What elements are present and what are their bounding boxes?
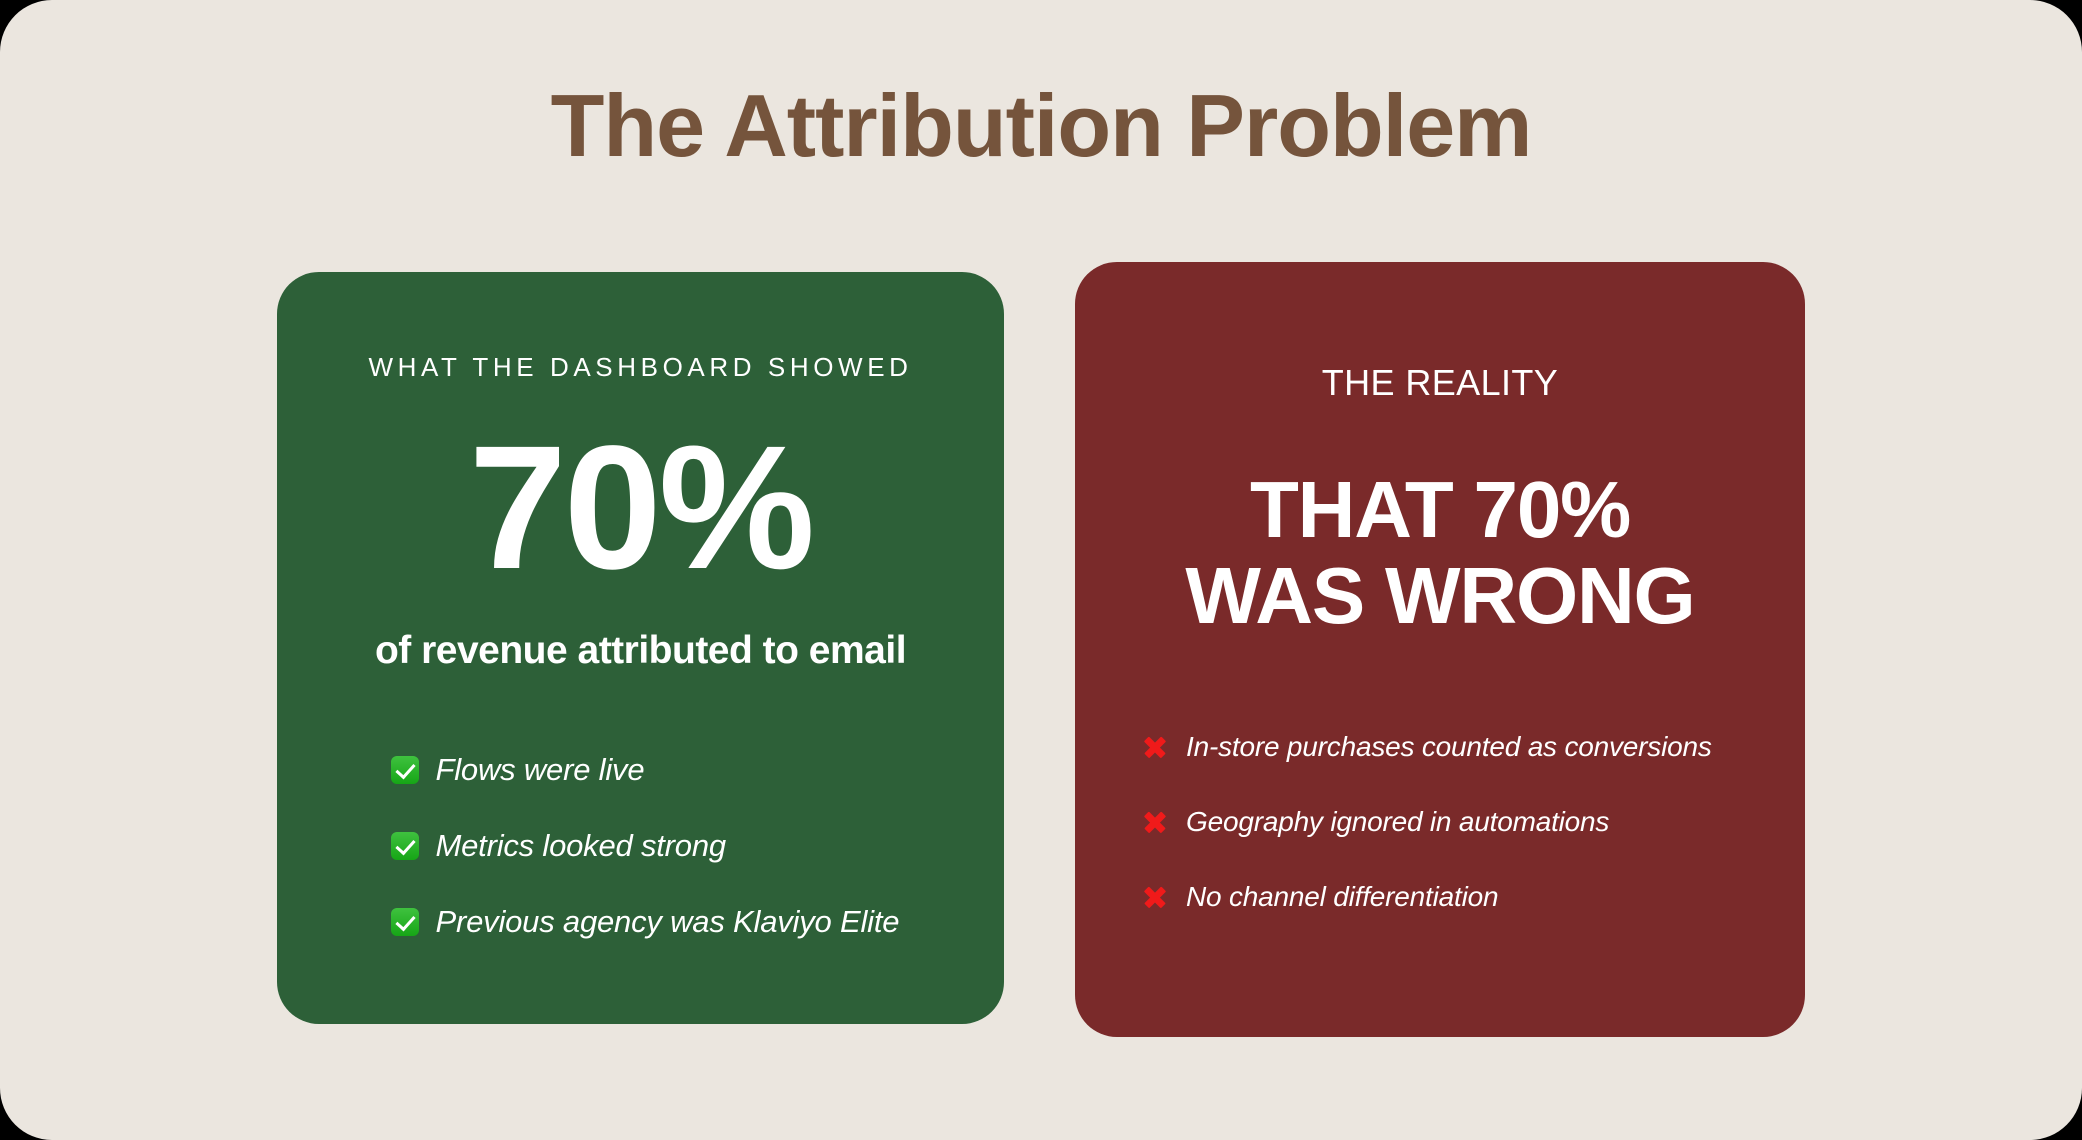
reality-card-eyebrow: THE REALITY bbox=[1075, 362, 1805, 404]
slide-canvas: The Attribution Problem WHAT THE DASHBOA… bbox=[0, 0, 2082, 1140]
dashboard-card: WHAT THE DASHBOARD SHOWED 70% of revenue… bbox=[277, 272, 1004, 1024]
list-item-label: Metrics looked strong bbox=[436, 828, 726, 864]
check-icon bbox=[391, 756, 419, 784]
list-item-label: Previous agency was Klaviyo Elite bbox=[436, 904, 900, 940]
dashboard-card-caption: of revenue attributed to email bbox=[277, 629, 1004, 673]
dashboard-card-eyebrow: WHAT THE DASHBOARD SHOWED bbox=[277, 352, 1004, 383]
x-icon bbox=[1141, 808, 1169, 836]
x-icon bbox=[1141, 733, 1169, 761]
list-item: No channel differentiation bbox=[1141, 880, 1805, 914]
dashboard-bullet-list: Flows were live Metrics looked strong Pr… bbox=[277, 752, 1004, 940]
page-title: The Attribution Problem bbox=[0, 78, 2082, 175]
list-item: Flows were live bbox=[391, 752, 891, 788]
x-icon bbox=[1141, 883, 1169, 911]
list-item: Previous agency was Klaviyo Elite bbox=[391, 904, 891, 940]
list-item-label: Geography ignored in automations bbox=[1186, 806, 1609, 838]
reality-card: THE REALITY THAT 70% WAS WRONG In-store … bbox=[1075, 262, 1805, 1037]
list-item: In-store purchases counted as conversion… bbox=[1141, 730, 1805, 764]
check-icon bbox=[391, 832, 419, 860]
reality-bullet-list: In-store purchases counted as conversion… bbox=[1075, 730, 1805, 914]
check-icon bbox=[391, 908, 419, 936]
list-item-label: Flows were live bbox=[436, 752, 645, 788]
list-item-label: In-store purchases counted as conversion… bbox=[1186, 731, 1712, 763]
list-item: Metrics looked strong bbox=[391, 828, 891, 864]
dashboard-card-stat: 70% bbox=[277, 407, 1004, 609]
reality-card-headline: THAT 70% WAS WRONG bbox=[1075, 467, 1805, 638]
list-item-label: No channel differentiation bbox=[1186, 881, 1498, 913]
list-item: Geography ignored in automations bbox=[1141, 805, 1805, 839]
